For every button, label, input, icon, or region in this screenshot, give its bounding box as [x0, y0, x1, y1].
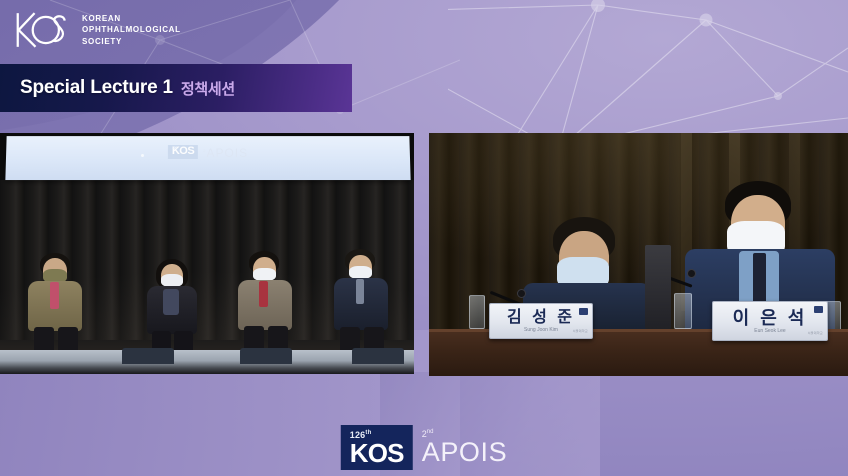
panelist-3	[232, 251, 298, 363]
video-panel-left[interactable]: 126 KOS 2APOIS	[0, 133, 414, 374]
screen-kos-box: 126 KOS	[168, 145, 198, 159]
nameplate-badge-right-icon	[814, 306, 823, 313]
network-pattern-icon	[448, 0, 848, 150]
water-glass-center	[674, 293, 692, 329]
panelist-2-blouse	[163, 289, 179, 315]
society-line-3: SOCIETY	[82, 36, 181, 47]
chair-back-2	[240, 348, 292, 364]
kos-logo: KOREAN OPHTHALMOLOGICAL SOCIETY	[14, 9, 181, 51]
water-glass-left	[469, 295, 485, 329]
session-subtitle: 정책세션	[181, 78, 235, 99]
screen-dot-icon	[141, 154, 144, 157]
slide-canvas: KOREAN OPHTHALMOLOGICAL SOCIETY Special …	[0, 0, 848, 476]
microphone-head-left-icon	[517, 289, 526, 298]
footer-kos-ordinal-suffix: th	[365, 430, 371, 436]
screen-apois-text: 2APOIS	[203, 147, 248, 159]
session-title-bar: Special Lecture 1 정책세션	[0, 64, 352, 112]
nameplate-right-org: 서울대학교	[808, 331, 823, 335]
screen-apois-label: APOIS	[206, 146, 248, 160]
screen-kos-ordinal: 126	[172, 146, 177, 150]
podium-stand	[645, 245, 671, 329]
panelist-1	[22, 253, 90, 363]
podium-scene: 김 성 준 Sung Joon Kim 서울대학교 이 은 석 Eun Seok…	[429, 133, 848, 376]
nameplate-badge-left-icon	[579, 308, 588, 315]
session-title: Special Lecture 1	[20, 77, 173, 99]
society-line-1: KOREAN	[82, 13, 181, 24]
panelist-4-tie	[356, 279, 364, 304]
footer-apois-block: 2nd APOIS	[422, 425, 508, 470]
society-line-2: OPHTHALMOLOGICAL	[82, 24, 181, 35]
footer-event-logo: 126th KOS 2nd APOIS	[341, 425, 507, 470]
nameplate-right-romanized: Eun Seok Lee	[754, 329, 785, 334]
footer-apois-text: APOIS	[422, 440, 508, 466]
projection-screen: 126 KOS 2APOIS	[5, 136, 410, 180]
nameplate-speaker-right: 이 은 석 Eun Seok Lee 서울대학교	[712, 301, 828, 341]
footer-kos-text: KOS	[350, 441, 404, 466]
panelist-1-tie	[50, 282, 59, 309]
footer-kos-box: 126th KOS	[341, 425, 413, 470]
nameplate-left-korean: 김 성 준	[507, 310, 575, 326]
nameplate-left-romanized: Sung Joon Kim	[524, 328, 558, 333]
kos-monogram-icon	[14, 9, 72, 51]
nameplate-right-korean: 이 은 석	[733, 309, 808, 327]
nameplate-speaker-left: 김 성 준 Sung Joon Kim 서울대학교	[489, 303, 593, 339]
microphone-head-right-icon	[687, 269, 696, 278]
video-panel-right[interactable]: 김 성 준 Sung Joon Kim 서울대학교 이 은 석 Eun Seok…	[429, 133, 848, 376]
panelist-4	[328, 249, 394, 363]
nameplate-left-org: 서울대학교	[573, 329, 588, 333]
screen-event-logo: 126 KOS 2APOIS	[168, 145, 248, 159]
panelist-3-tie	[259, 281, 268, 307]
kos-society-name: KOREAN OPHTHALMOLOGICAL SOCIETY	[82, 13, 181, 46]
chair-back-1	[122, 348, 174, 364]
stage-scene: 126 KOS 2APOIS	[0, 133, 414, 374]
footer-apois-ordinal-suffix: nd	[427, 429, 434, 435]
chair-back-3	[352, 348, 404, 364]
